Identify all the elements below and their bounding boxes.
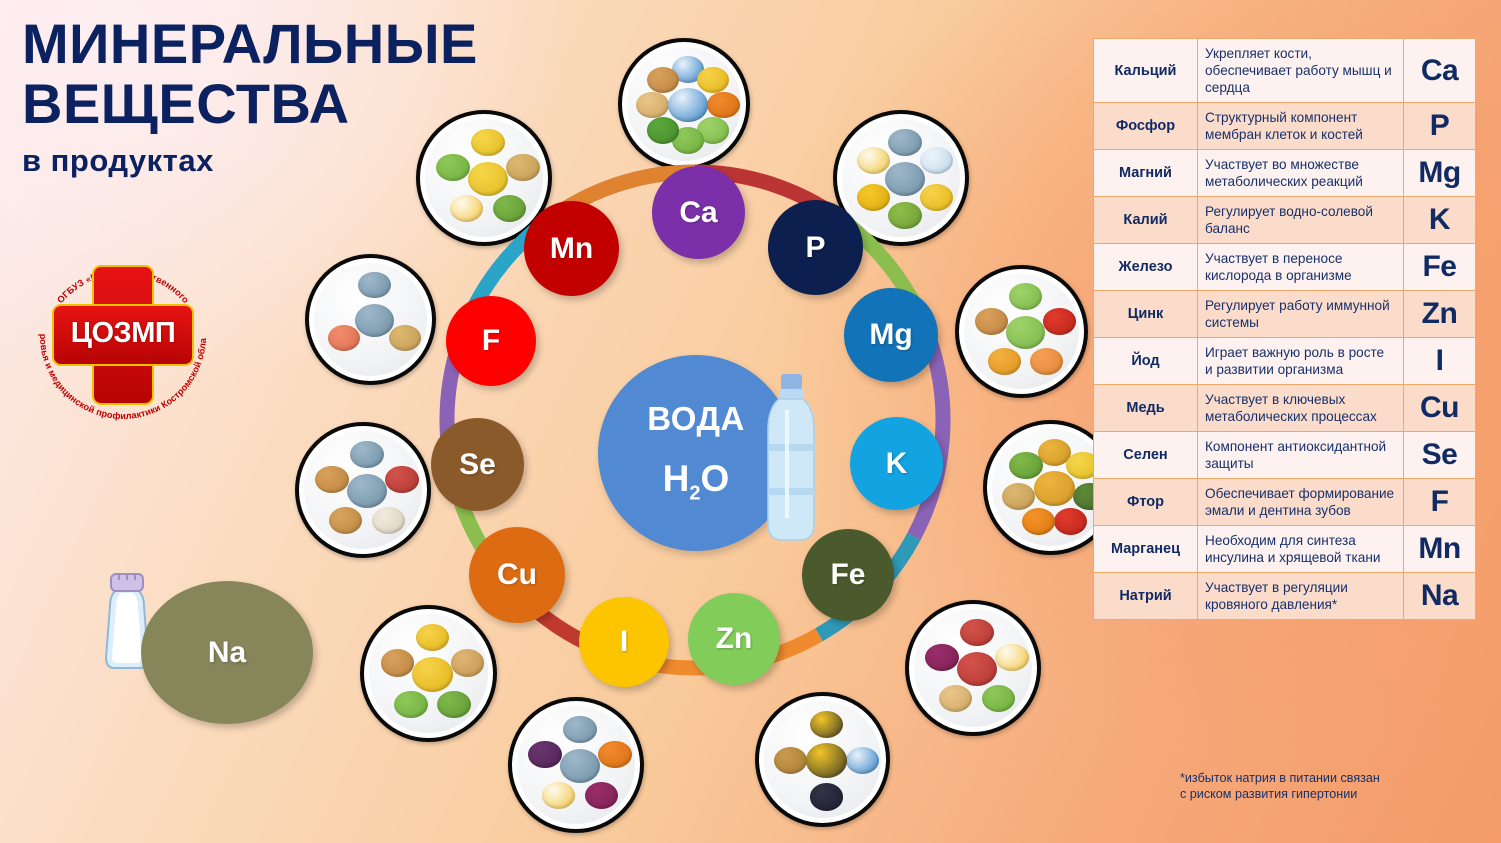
bubble-k[interactable]: K (850, 417, 943, 510)
mineral-description: Участвует во множестве метаболических ре… (1198, 150, 1404, 197)
food-circle-potassium (955, 265, 1088, 398)
mineral-symbol: Na (1404, 573, 1476, 620)
food-item-fish-main (355, 304, 394, 337)
poster-canvas: МИНЕРАЛЬНЫЕ ВЕЩЕСТВА в продуктах ОГБУЗ «… (0, 0, 1501, 843)
mineral-symbol: I (1404, 338, 1476, 385)
bubble-zn-label: Zn (716, 622, 753, 656)
table-row: КалийРегулирует водно-солевой балансK (1094, 197, 1476, 244)
mineral-symbol: Mg (1404, 150, 1476, 197)
mineral-symbol: Mn (1404, 526, 1476, 573)
food-circle-manganese (305, 254, 436, 385)
food-item-nuts (315, 466, 348, 493)
minerals-table-panel: КальцийУкрепляет кости, обеспечивает раб… (1093, 38, 1476, 620)
table-row: МарганецНеобходим для синтеза инсулина и… (1094, 526, 1476, 573)
mineral-symbol: Cu (1404, 385, 1476, 432)
table-row: ЖелезоУчаствует в переносе кислорода в о… (1094, 244, 1476, 291)
mineral-description: Структурный компонент мембран клеток и к… (1198, 103, 1404, 150)
food-circle-selenium (508, 697, 644, 833)
food-item-sunflower-main (806, 743, 847, 777)
table-row: ФосфорСтруктурный компонент мембран клет… (1094, 103, 1476, 150)
food-item-peach (1030, 348, 1063, 375)
title-line-2: ВЕЩЕСТВА (22, 74, 642, 134)
food-item-nuts (647, 67, 679, 94)
water-label: ВОДА (647, 400, 745, 438)
table-row: КальцийУкрепляет кости, обеспечивает раб… (1094, 39, 1476, 103)
mineral-description: Регулирует водно-солевой баланс (1198, 197, 1404, 244)
mineral-description: Регулирует работу иммунной системы (1198, 291, 1404, 338)
table-row: МедьУчаствует в ключевых метаболических … (1094, 385, 1476, 432)
mineral-symbol: Fe (1404, 244, 1476, 291)
minerals-table: КальцийУкрепляет кости, обеспечивает раб… (1093, 38, 1476, 620)
red-cross-icon: ЦОЗМП (52, 265, 194, 405)
mineral-symbol: Zn (1404, 291, 1476, 338)
mineral-symbol: F (1404, 479, 1476, 526)
mineral-description: Укрепляет кости, обеспечивает работу мыш… (1198, 39, 1404, 103)
table-row: ЦинкРегулирует работу иммунной системыZn (1094, 291, 1476, 338)
bubble-cu[interactable]: Cu (469, 527, 565, 623)
food-item-tomato (1043, 308, 1076, 335)
food-item-cabbage (1009, 283, 1042, 310)
food-circle-fluorine (295, 422, 431, 558)
mineral-symbol: P (1404, 103, 1476, 150)
mineral-description: Необходим для синтеза инсулина и хрящево… (1198, 526, 1404, 573)
mineral-description: Обеспечивает формирование эмали и дентин… (1198, 479, 1404, 526)
food-item-seeds (774, 747, 807, 774)
bubble-ca-label: Ca (679, 196, 717, 230)
logo-abbreviation: ЦОЗМП (52, 317, 194, 350)
bubble-se-label: Se (459, 448, 496, 482)
mineral-name: Железо (1094, 244, 1198, 291)
mineral-name: Медь (1094, 385, 1198, 432)
bubble-p[interactable]: P (768, 200, 863, 295)
mineral-description: Участвует в ключевых метаболических проц… (1198, 385, 1404, 432)
mineral-description: Участвует в регуляции кровяного давления… (1198, 573, 1404, 620)
bubble-mn[interactable]: Mn (524, 201, 619, 296)
food-item-egg (995, 644, 1028, 671)
mineral-name: Цинк (1094, 291, 1198, 338)
footnote-line-2: с риском развития гипертонии (1180, 786, 1480, 802)
table-footnote: *избыток натрия в питании связан с риско… (1180, 770, 1480, 802)
food-item-cucumber (1009, 452, 1042, 479)
food-item-melon-main (1034, 471, 1075, 505)
table-row: МагнийУчаствует во множестве метаболичес… (1094, 150, 1476, 197)
bubble-mn-label: Mn (550, 232, 593, 266)
mineral-name: Магний (1094, 150, 1198, 197)
bubble-f-label: F (482, 324, 500, 358)
mineral-name: Калий (1094, 197, 1198, 244)
bubble-na-label: Na (208, 636, 246, 670)
food-item-fish (358, 272, 390, 298)
mineral-description: Участвует в переносе кислорода в организ… (1198, 244, 1404, 291)
bubble-na[interactable]: Na (141, 581, 313, 724)
mineral-name: Марганец (1094, 526, 1198, 573)
water-formula: H2O (663, 458, 730, 505)
mineral-description: Играет важную роль в росте и развитии ор… (1198, 338, 1404, 385)
bubble-i[interactable]: I (579, 597, 669, 687)
mineral-symbol: Ca (1404, 39, 1476, 103)
food-item-onion (636, 92, 668, 119)
food-item-carrot (707, 92, 739, 119)
title-line-1: МИНЕРАЛЬНЫЕ (22, 14, 642, 74)
food-item-carrot (598, 741, 631, 768)
food-item-milk-carton-main (668, 88, 708, 122)
mineral-name: Селен (1094, 432, 1198, 479)
food-item-nuts (975, 308, 1008, 335)
mineral-description: Компонент антиоксидантной защиты (1198, 432, 1404, 479)
food-item-fish (563, 716, 596, 743)
bubble-zn[interactable]: Zn (688, 593, 780, 685)
food-circle-iodine (755, 692, 890, 827)
table-row: ФторОбеспечивает формирование эмали и де… (1094, 479, 1476, 526)
food-item-apricot (988, 348, 1021, 375)
table-row: ЙодИграет важную роль в росте и развитии… (1094, 338, 1476, 385)
water-bottle-icon (760, 372, 822, 544)
table-row: НатрийУчаствует в регуляции кровяного да… (1094, 573, 1476, 620)
bubble-cu-label: Cu (497, 558, 537, 592)
mineral-name: Фосфор (1094, 103, 1198, 150)
bubble-ca[interactable]: Ca (652, 166, 745, 259)
mineral-name: Натрий (1094, 573, 1198, 620)
food-item-tomato (1054, 508, 1087, 535)
bubble-fe-label: Fe (830, 558, 865, 592)
food-item-meat (385, 466, 418, 493)
organization-logo: ОГБУЗ «Центр общественного здоровья и ме… (28, 242, 218, 427)
footnote-line-1: *избыток натрия в питании связан (1180, 770, 1480, 786)
food-item-parsley (647, 117, 679, 144)
bubble-i-label: I (620, 625, 628, 659)
mineral-symbol: Se (1404, 432, 1476, 479)
food-item-orange (1022, 508, 1055, 535)
mineral-name: Фтор (1094, 479, 1198, 526)
food-item-berries (810, 783, 843, 810)
food-item-sunflower (810, 711, 843, 738)
mineral-name: Кальций (1094, 39, 1198, 103)
bubble-mg[interactable]: Mg (844, 288, 938, 382)
bubble-mg-label: Mg (869, 318, 912, 352)
food-item-fish (350, 441, 383, 468)
table-row: СеленКомпонент антиоксидантной защитыSe (1094, 432, 1476, 479)
bubble-k-label: K (886, 447, 908, 481)
food-item-eggplant (528, 741, 561, 768)
food-item-nuts (381, 649, 415, 677)
mineral-name: Йод (1094, 338, 1198, 385)
bubble-f[interactable]: F (446, 296, 536, 386)
bubble-p-label: P (805, 231, 825, 265)
mineral-symbol: K (1404, 197, 1476, 244)
bubble-se[interactable]: Se (431, 418, 524, 511)
